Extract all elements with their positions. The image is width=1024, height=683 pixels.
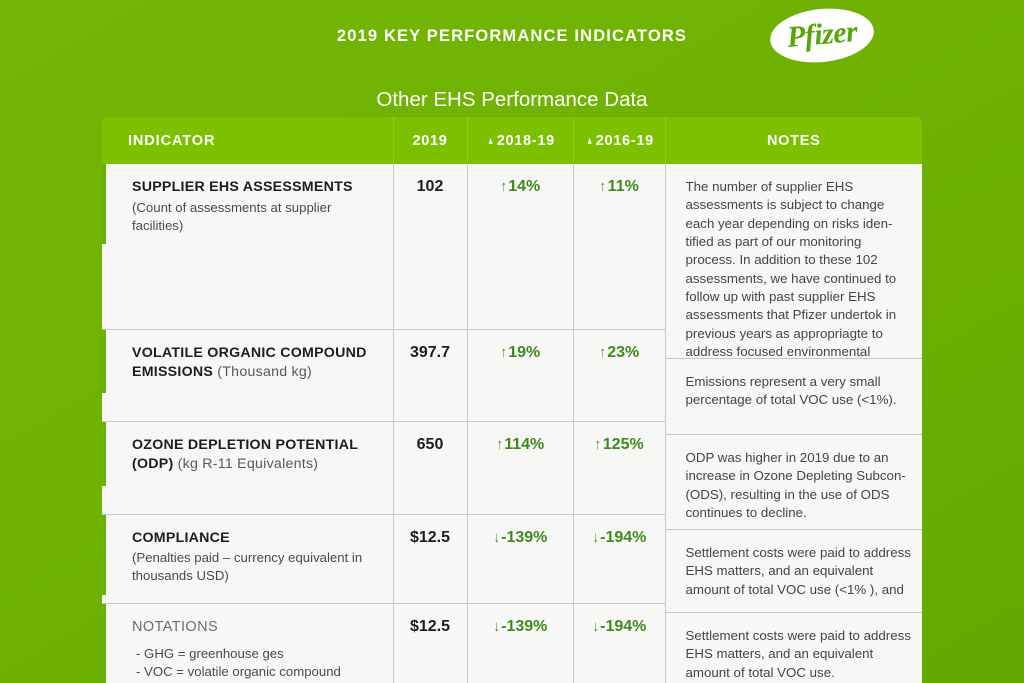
- arrow-down-icon: ↓: [592, 618, 598, 635]
- cell-value-2019: 650: [393, 422, 467, 514]
- cell-delta-2018-19: ↑114%: [467, 422, 573, 514]
- arrow-up-icon: ↑: [595, 436, 601, 453]
- slide-root: 2019 KEY PERFORMANCE INDICATORS Pfizer O…: [0, 0, 1024, 683]
- column-header-2019-label: 2019: [412, 133, 447, 149]
- cell-value-2019: 397.7: [393, 329, 467, 421]
- indicator-name-strong: COMPLIANCE: [132, 530, 230, 546]
- indicator-name: VOLATILE ORGANIC COMPOUND EMISSIONS (Tho…: [132, 344, 379, 382]
- column-header-delta-2018-19-label: 2018-19: [497, 133, 555, 149]
- cell-indicator: VOLATILE ORGANIC COMPOUND EMISSIONS (Tho…: [102, 329, 393, 421]
- delta-2016-19-value: 125%: [603, 436, 644, 453]
- triangle-up-icon: ▲: [487, 135, 494, 147]
- column-header-2019: 2019: [393, 117, 467, 164]
- table-body: SUPPLIER EHS ASSESSMENTS (Count of asses…: [102, 164, 922, 683]
- kpi-table: INDICATOR 2019 ▲2018-19 ▲2016-19 NOTES: [102, 117, 922, 683]
- table-header: INDICATOR 2019 ▲2018-19 ▲2016-19 NOTES: [102, 117, 922, 164]
- cell-value-2019: $12.5: [393, 604, 467, 683]
- note-block: The number of supplier EHS assessments i…: [666, 164, 923, 359]
- note-block: ODP was higher in 2019 due to an increas…: [666, 435, 923, 530]
- cell-delta-2016-19: ↑125%: [573, 422, 665, 514]
- cell-delta-2016-19: ↑11%: [573, 164, 665, 329]
- arrow-up-icon: ↑: [599, 344, 605, 361]
- note-block: Settlement costs were paid to address EH…: [666, 613, 923, 683]
- note-block: Settlement costs were paid to address EH…: [666, 530, 923, 613]
- column-header-delta-2018-19: ▲2018-19: [467, 117, 573, 164]
- cell-value-2019: $12.5: [393, 514, 467, 603]
- arrow-up-icon: ↑: [500, 178, 506, 195]
- cell-notes-column: The number of supplier EHS assessments i…: [665, 164, 922, 683]
- triangle-up-icon: ▲: [586, 135, 593, 147]
- indicator-subtitle: - GHG = greenhouse ges - VOC = volatile …: [132, 645, 379, 680]
- column-header-indicator-label: INDICATOR: [128, 133, 215, 149]
- arrow-down-icon: ↓: [592, 529, 598, 546]
- table-row: SUPPLIER EHS ASSESSMENTS (Count of asses…: [102, 164, 922, 329]
- indicator-name: COMPLIANCE: [132, 529, 379, 548]
- cell-indicator: OZONE DEPLETION POTENTIAL (ODP) (kg R-11…: [102, 422, 393, 514]
- indicator-name-light: (kg R-11 Equivalents): [173, 456, 318, 472]
- cell-delta-2016-19: ↓-194%: [573, 604, 665, 683]
- arrow-down-icon: ↓: [493, 529, 499, 546]
- cell-delta-2018-19: ↓-139%: [467, 604, 573, 683]
- cell-value-2019: 102: [393, 164, 467, 329]
- column-header-notes-label: NOTES: [767, 133, 820, 149]
- indicator-name-strong: NOTATIONS: [132, 619, 218, 635]
- cell-delta-2018-19: ↑14%: [467, 164, 573, 329]
- arrow-down-icon: ↓: [493, 618, 499, 635]
- column-header-delta-2016-19-label: 2016-19: [596, 133, 654, 149]
- delta-2018-19-value: -139%: [501, 618, 547, 635]
- column-header-delta-2016-19: ▲2016-19: [573, 117, 665, 164]
- delta-2018-19-value: 14%: [508, 178, 540, 195]
- cell-indicator: SUPPLIER EHS ASSESSMENTS (Count of asses…: [102, 164, 393, 329]
- cell-delta-2018-19: ↓-139%: [467, 514, 573, 603]
- column-header-notes: NOTES: [665, 117, 922, 164]
- cell-delta-2018-19: ↑19%: [467, 329, 573, 421]
- delta-2018-19-value: -139%: [501, 529, 547, 546]
- cell-delta-2016-19: ↑23%: [573, 329, 665, 421]
- indicator-name: OZONE DEPLETION POTENTIAL (ODP) (kg R-11…: [132, 436, 379, 474]
- kpi-table-wrapper: INDICATOR 2019 ▲2018-19 ▲2016-19 NOTES: [102, 117, 922, 683]
- indicator-name: NOTATIONS: [132, 618, 379, 637]
- delta-2018-19-value: 19%: [508, 344, 540, 361]
- pfizer-logo-text: Pfizer: [786, 16, 859, 54]
- cell-indicator: COMPLIANCE (Penalties paid – currency eq…: [102, 514, 393, 603]
- section-title: Other EHS Performance Data: [0, 88, 1024, 112]
- indicator-subtitle: (Penalties paid – currency equivalent in…: [132, 549, 379, 584]
- indicator-subtitle: (Count of assessments at supplier facili…: [132, 199, 379, 234]
- arrow-up-icon: ↑: [500, 344, 506, 361]
- note-block: Emissions represent a very small percent…: [666, 359, 923, 435]
- cell-indicator: NOTATIONS - GHG = greenhouse ges - VOC =…: [102, 604, 393, 683]
- indicator-name-light: (Thousand kg): [213, 364, 312, 380]
- arrow-up-icon: ↑: [496, 436, 502, 453]
- cell-delta-2016-19: ↓-194%: [573, 514, 665, 603]
- pfizer-logo: Pfizer: [768, 4, 877, 68]
- arrow-up-icon: ↑: [600, 178, 606, 195]
- indicator-name: SUPPLIER EHS ASSESSMENTS: [132, 178, 379, 197]
- delta-2016-19-value: -194%: [600, 618, 646, 635]
- column-header-indicator: INDICATOR: [102, 117, 393, 164]
- delta-2016-19-value: 11%: [608, 178, 639, 195]
- indicator-name-strong: SUPPLIER EHS ASSESSMENTS: [132, 179, 353, 195]
- delta-2016-19-value: -194%: [600, 529, 646, 546]
- table-header-row: INDICATOR 2019 ▲2018-19 ▲2016-19 NOTES: [102, 117, 922, 164]
- delta-2016-19-value: 23%: [607, 344, 639, 361]
- delta-2018-19-value: 114%: [504, 436, 544, 453]
